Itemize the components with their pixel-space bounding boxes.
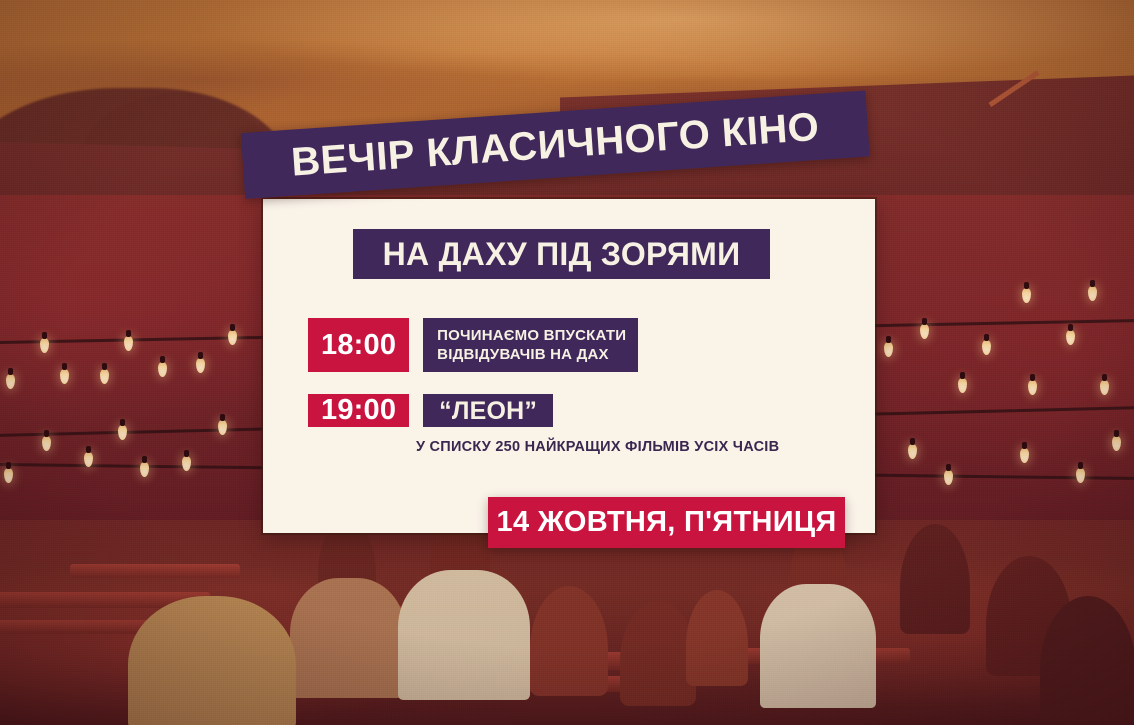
- schedule-time-chip: 18:00: [308, 318, 409, 372]
- schedule-description-line-1: ПОЧИНАЄМО ВПУСКАТИ: [437, 326, 626, 345]
- film-title: “ЛЕОН”: [439, 394, 537, 427]
- schedule-row: 19:00 “ЛЕОН”: [308, 394, 828, 427]
- film-ranking-note: У СПИСКУ 250 НАЙКРАЩИХ ФІЛЬМІВ УСІХ ЧАСІ…: [416, 439, 828, 455]
- audience-silhouette: [290, 578, 406, 698]
- audience-silhouette: [760, 584, 876, 708]
- page-subtitle: НА ДАХУ ПІД ЗОРЯМИ: [383, 236, 741, 273]
- poster-canvas: ВЕЧІР КЛАСИЧНОГО КІНО НА ДАХУ ПІД ЗОРЯМИ…: [0, 0, 1134, 725]
- schedule-row: 18:00 ПОЧИНАЄМО ВПУСКАТИ ВІДВІДУВАЧІВ НА…: [308, 318, 828, 372]
- schedule-film-chip: “ЛЕОН”: [423, 394, 553, 427]
- bench: [70, 564, 240, 578]
- subtitle-banner: НА ДАХУ ПІД ЗОРЯМИ: [353, 229, 770, 279]
- schedule-list: 18:00 ПОЧИНАЄМО ВПУСКАТИ ВІДВІДУВАЧІВ НА…: [308, 318, 828, 455]
- audience-silhouette: [128, 596, 296, 725]
- audience-silhouette: [398, 570, 530, 700]
- schedule-description-chip: ПОЧИНАЄМО ВПУСКАТИ ВІДВІДУВАЧІВ НА ДАХ: [423, 318, 638, 372]
- date-banner: 14 ЖОВТНЯ, П'ЯТНИЦЯ: [488, 497, 845, 548]
- schedule-time-chip: 19:00: [308, 394, 409, 427]
- schedule-description-line-2: ВІДВІДУВАЧІВ НА ДАХ: [437, 345, 626, 364]
- event-date: 14 ЖОВТНЯ, П'ЯТНИЦЯ: [497, 506, 837, 539]
